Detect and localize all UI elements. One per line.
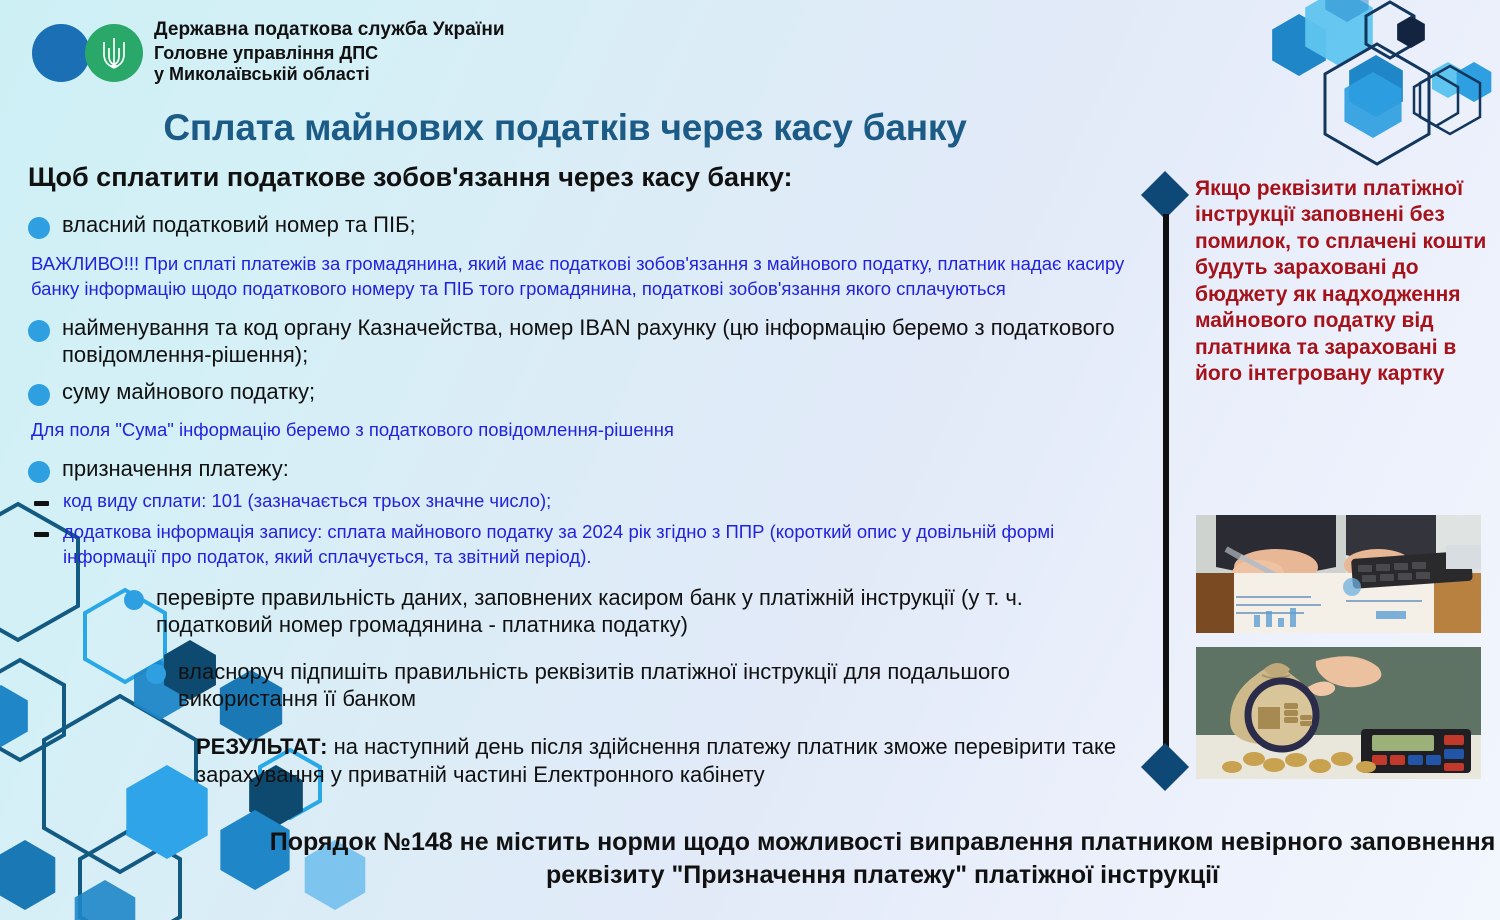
- result-text: на наступний день після здійснення плате…: [196, 734, 1116, 787]
- vertical-divider: [1163, 214, 1169, 754]
- photo-hands-calculator: [1196, 515, 1481, 633]
- bullet-icon: [28, 384, 50, 406]
- bullet-text-5: перевірте правильність даних, заповнених…: [156, 585, 1138, 639]
- dash-icon: [34, 501, 49, 506]
- green-circle-trident-icon: [85, 24, 143, 82]
- hexagon-decoration-top-right: [1240, 0, 1500, 190]
- list-item: призначення платежу:: [28, 456, 1138, 483]
- note-important: ВАЖЛИВО!!! При сплаті платежів за громад…: [31, 252, 1138, 301]
- org-line-3: у Миколаївській області: [154, 64, 505, 85]
- bullet-text-6: власноруч підпишіть правильність реквізи…: [178, 659, 1138, 713]
- list-item: власноруч підпишіть правильність реквізи…: [146, 659, 1138, 713]
- sub-list-item: додаткова інформація запису: сплата майн…: [28, 520, 1138, 569]
- list-item: власний податковий номер та ПІБ;: [28, 212, 1138, 239]
- diamond-marker-bottom-icon: [1141, 743, 1189, 791]
- header: Державна податкова служба України Головн…: [28, 14, 505, 90]
- sub-item-text-1: код виду сплати: 101 (зазначається трьох…: [63, 489, 551, 514]
- org-line-2: Головне управління ДПС: [154, 43, 505, 64]
- bullet-icon: [146, 664, 166, 684]
- content-column: власний податковий номер та ПІБ; ВАЖЛИВО…: [28, 212, 1138, 789]
- org-line-1: Державна податкова служба України: [154, 19, 505, 41]
- result-label: РЕЗУЛЬТАТ:: [196, 734, 327, 759]
- organization-block: Державна податкова служба України Головн…: [154, 19, 505, 85]
- sub-item-text-2: додаткова інформація запису: сплата майн…: [63, 520, 1138, 569]
- result-block: РЕЗУЛЬТАТ: на наступний день після здійс…: [196, 733, 1138, 789]
- dash-icon: [34, 532, 49, 537]
- trident-icon: [99, 34, 129, 72]
- infographic-poster: Державна податкова служба України Головн…: [0, 0, 1500, 920]
- sub-list-item: код виду сплати: 101 (зазначається трьох…: [28, 489, 1138, 514]
- logo-marks: [28, 14, 154, 90]
- footer-note: Порядок №148 не містить норми щодо можли…: [265, 826, 1500, 892]
- list-item: найменування та код органу Казначейства,…: [28, 315, 1138, 369]
- bullet-text-2: найменування та код органу Казначейства,…: [62, 315, 1138, 369]
- photo-money-bag-magnifier: [1196, 647, 1481, 779]
- list-item: перевірте правильність даних, заповнених…: [124, 585, 1138, 639]
- bullet-text-1: власний податковий номер та ПІБ;: [62, 212, 416, 239]
- diamond-marker-top-icon: [1141, 171, 1189, 219]
- subtitle: Щоб сплатити податкове зобов'язання чере…: [28, 162, 1128, 193]
- blue-circle-icon: [32, 24, 90, 82]
- bullet-text-3: суму майнового податку;: [62, 379, 315, 406]
- bullet-icon: [124, 590, 144, 610]
- page-title: Сплата майнових податків через касу банк…: [0, 107, 1130, 149]
- bullet-icon: [28, 217, 50, 239]
- list-item: суму майнового податку;: [28, 379, 1138, 406]
- bullet-text-4: призначення платежу:: [62, 456, 289, 483]
- callout-text: Якщо реквізити платіжної інструкції запо…: [1195, 176, 1495, 388]
- bullet-icon: [28, 320, 50, 342]
- bullet-icon: [28, 461, 50, 483]
- note-sum-field: Для поля "Сума" інформацію беремо з пода…: [31, 418, 1138, 443]
